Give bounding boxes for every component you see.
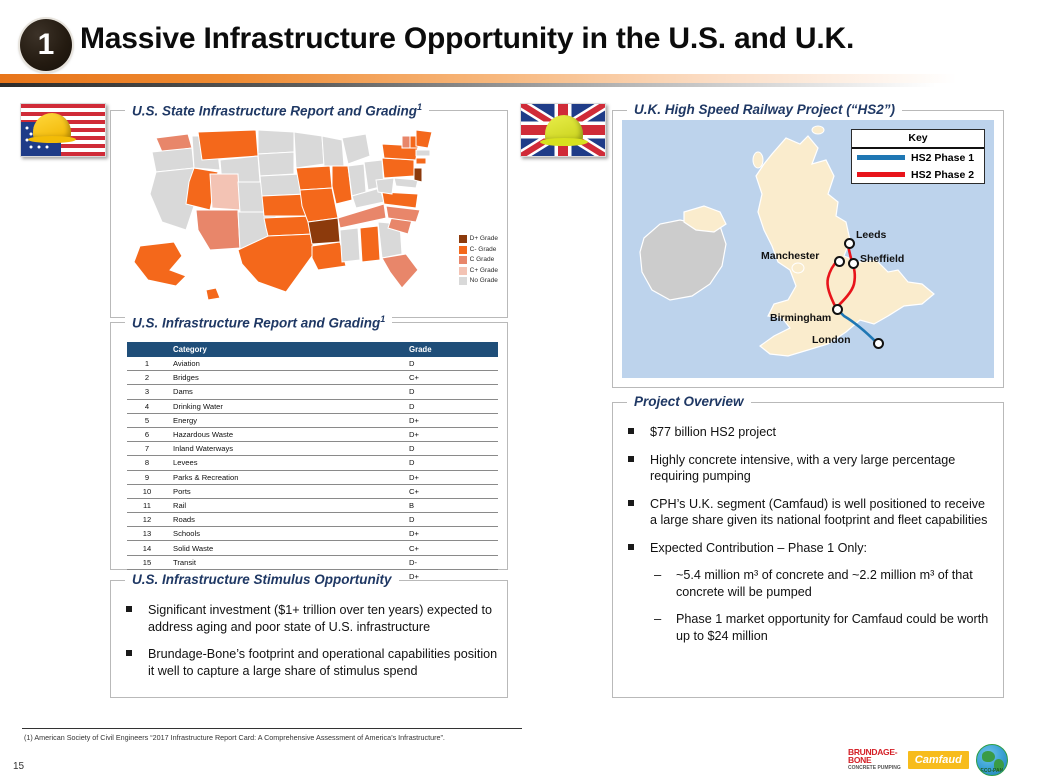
column-header-category: Category xyxy=(167,342,403,357)
table-row: 9Parks & RecreationD+ xyxy=(127,470,498,484)
cell-grade: D- xyxy=(403,555,498,569)
cell-category: Aviation xyxy=(167,357,403,371)
footnote-text: (1) American Society of Civil Engineers … xyxy=(24,733,445,742)
city-label-sheffield: Sheffield xyxy=(860,253,904,265)
us-state-choropleth-map: D+ Grade C- Grade C Grade C+ Grade No Gr… xyxy=(118,124,498,309)
ecopan-logo-text: ECO-PAN xyxy=(977,768,1007,774)
state-az xyxy=(196,210,240,250)
phase2-line-swatch xyxy=(857,172,905,177)
cell-grade: D xyxy=(403,456,498,470)
us-state-map-caption: U.S. State Infrastructure Report and Gra… xyxy=(125,102,429,119)
cell-grade: C+ xyxy=(403,541,498,555)
bullet-square-icon xyxy=(624,496,650,529)
cell-index: 9 xyxy=(127,470,167,484)
state-mi xyxy=(342,134,370,164)
uk-flag-hardhat-icon xyxy=(520,103,606,157)
legend-item: D+ Grade xyxy=(459,234,498,245)
legend-item: C- Grade xyxy=(459,245,498,256)
footnote-divider xyxy=(22,728,522,729)
cell-category: Bridges xyxy=(167,371,403,385)
city-label-london: London xyxy=(812,334,850,346)
hs2-map-key: Key HS2 Phase 1 HS2 Phase 2 xyxy=(851,129,985,184)
list-item-text: Highly concrete intensive, with a very l… xyxy=(650,452,994,485)
table-row: 3DamsD xyxy=(127,385,498,399)
list-item-text: ~5.4 million m³ of concrete and ~2.2 mil… xyxy=(676,567,994,600)
brundage-bone-logo: BRUNDAGE- BONE CONCRETE PUMPING xyxy=(848,748,901,772)
page-title: Massive Infrastructure Opportunity in th… xyxy=(80,22,854,56)
cell-grade: D+ xyxy=(403,527,498,541)
title-divider-shadow xyxy=(0,83,1040,87)
uk-map-panel: U.K. High Speed Railway Project (“HS2”) xyxy=(612,110,1004,388)
list-item: Brundage-Bone’s footprint and operationa… xyxy=(122,646,500,679)
cell-category: Drinking Water xyxy=(167,399,403,413)
cell-grade: D xyxy=(403,399,498,413)
cell-grade: C+ xyxy=(403,371,498,385)
cell-index: 12 xyxy=(127,513,167,527)
city-dot-birmingham xyxy=(832,304,843,315)
state-nj xyxy=(414,168,422,182)
cell-index: 13 xyxy=(127,527,167,541)
state-ia xyxy=(296,166,332,190)
city-label-leeds: Leeds xyxy=(856,229,886,241)
us-flag-hardhat-icon xyxy=(20,103,106,157)
bullet-square-icon xyxy=(624,424,650,441)
state-vt xyxy=(402,136,410,148)
logo-group: BRUNDAGE- BONE CONCRETE PUMPING Camfaud … xyxy=(848,744,1008,776)
bullet-square-icon xyxy=(624,540,650,557)
bullet-dash-icon: – xyxy=(650,567,676,600)
table-header-row: Category Grade xyxy=(127,342,498,357)
page-number: 15 xyxy=(13,761,24,772)
state-me xyxy=(416,130,432,148)
us-map-legend: D+ Grade C- Grade C Grade C+ Grade No Gr… xyxy=(459,234,498,287)
table-row: 1AviationD xyxy=(127,357,498,371)
table-row: 14Solid WasteC+ xyxy=(127,541,498,555)
ecopan-logo: ECO-PAN xyxy=(976,744,1008,776)
state-wi xyxy=(322,136,344,166)
table-row: 13SchoolsD+ xyxy=(127,527,498,541)
bullet-square-icon xyxy=(122,602,148,635)
list-item: Significant investment ($1+ trillion ove… xyxy=(122,602,500,635)
state-sd xyxy=(258,152,294,176)
state-ma xyxy=(416,150,430,156)
state-pa xyxy=(382,158,414,178)
state-ct xyxy=(416,158,426,164)
legend-item: No Grade xyxy=(459,276,498,287)
uk-hs2-map: Leeds Manchester Sheffield Birmingham Lo… xyxy=(622,120,994,378)
list-item: CPH’s U.K. segment (Camfaud) is well pos… xyxy=(624,496,994,529)
table-row: 15TransitD- xyxy=(127,555,498,569)
list-item-text: CPH’s U.K. segment (Camfaud) is well pos… xyxy=(650,496,994,529)
city-dot-london xyxy=(873,338,884,349)
cell-grade: D xyxy=(403,385,498,399)
brundage-bone-tagline: CONCRETE PUMPING xyxy=(848,764,901,772)
state-mo xyxy=(300,188,338,222)
state-hi xyxy=(206,288,220,300)
brundage-bone-line2: BONE xyxy=(848,756,901,764)
cell-index: 14 xyxy=(127,541,167,555)
state-nd xyxy=(258,130,294,154)
cell-category: Roads xyxy=(167,513,403,527)
cell-category: Rail xyxy=(167,498,403,512)
list-item: $77 billion HS2 project xyxy=(624,424,994,441)
cell-index: 1 xyxy=(127,357,167,371)
city-dot-leeds xyxy=(844,238,855,249)
list-item-text: Expected Contribution – Phase 1 Only: xyxy=(650,540,994,557)
cell-category: Hazardous Waste xyxy=(167,427,403,441)
cell-index: 15 xyxy=(127,555,167,569)
cell-index: 2 xyxy=(127,371,167,385)
state-mn xyxy=(294,132,324,168)
city-dot-sheffield xyxy=(848,258,859,269)
cell-grade: D+ xyxy=(403,427,498,441)
list-item-text: Brundage-Bone’s footprint and operationa… xyxy=(148,646,500,679)
key-item-label: HS2 Phase 1 xyxy=(911,152,974,164)
table-row: 8LeveesD xyxy=(127,456,498,470)
bullet-square-icon xyxy=(624,452,650,485)
list-item-text: $77 billion HS2 project xyxy=(650,424,994,441)
table-row: 6Hazardous WasteD+ xyxy=(127,427,498,441)
us-infrastructure-grades-table: Category Grade 1AviationD2BridgesC+3Dams… xyxy=(127,342,498,597)
cell-index: 5 xyxy=(127,413,167,427)
city-dot-manchester xyxy=(834,256,845,267)
legend-item: C Grade xyxy=(459,255,498,266)
state-ak xyxy=(134,242,186,286)
cell-index: 10 xyxy=(127,484,167,498)
cell-grade: D xyxy=(403,357,498,371)
cell-category: Parks & Recreation xyxy=(167,470,403,484)
cell-category: Levees xyxy=(167,456,403,470)
cell-index: 11 xyxy=(127,498,167,512)
cell-grade: D xyxy=(403,513,498,527)
us-stimulus-bullets: Significant investment ($1+ trillion ove… xyxy=(122,602,500,690)
table-row: 7Inland WaterwaysD xyxy=(127,442,498,456)
camfaud-logo: Camfaud xyxy=(908,751,969,769)
column-header-grade: Grade xyxy=(403,342,498,357)
cell-grade: D+ xyxy=(403,470,498,484)
cell-category: Dams xyxy=(167,385,403,399)
state-ms xyxy=(340,228,360,262)
list-item: Expected Contribution – Phase 1 Only: xyxy=(624,540,994,557)
table-row: 2BridgesC+ xyxy=(127,371,498,385)
list-item: Highly concrete intensive, with a very l… xyxy=(624,452,994,485)
cell-category: Solid Waste xyxy=(167,541,403,555)
bullet-dash-icon: – xyxy=(650,611,676,644)
cell-grade: D xyxy=(403,442,498,456)
bullet-square-icon xyxy=(122,646,148,679)
state-fl xyxy=(382,254,418,288)
cell-index: 8 xyxy=(127,456,167,470)
project-overview-caption: Project Overview xyxy=(627,394,751,409)
table-row: 4Drinking WaterD xyxy=(127,399,498,413)
cell-category: Ports xyxy=(167,484,403,498)
cell-grade: D+ xyxy=(403,413,498,427)
sub-list-item: –~5.4 million m³ of concrete and ~2.2 mi… xyxy=(650,567,994,600)
slide-number-badge: 1 xyxy=(20,19,72,71)
table-row: 11RailB xyxy=(127,498,498,512)
uk-map-caption: U.K. High Speed Railway Project (“HS2”) xyxy=(627,102,902,117)
cell-index: 3 xyxy=(127,385,167,399)
title-divider xyxy=(0,74,1040,83)
cell-category: Schools xyxy=(167,527,403,541)
table-row: 10PortsC+ xyxy=(127,484,498,498)
us-infrastructure-table-caption: U.S. Infrastructure Report and Grading1 xyxy=(125,314,392,331)
state-mt xyxy=(198,130,258,160)
cell-index: 6 xyxy=(127,427,167,441)
phase1-line-swatch xyxy=(857,155,905,160)
column-header-index xyxy=(127,342,167,357)
city-label-birmingham: Birmingham xyxy=(770,312,831,324)
list-item-text: Phase 1 market opportunity for Camfaud c… xyxy=(676,611,994,644)
state-al xyxy=(360,226,380,262)
table-row: 12RoadsD xyxy=(127,513,498,527)
city-label-manchester: Manchester xyxy=(761,250,819,262)
cell-category: Transit xyxy=(167,555,403,569)
cell-category: Inland Waterways xyxy=(167,442,403,456)
us-stimulus-caption: U.S. Infrastructure Stimulus Opportunity xyxy=(125,572,399,587)
table-row: 5EnergyD+ xyxy=(127,413,498,427)
state-va xyxy=(382,192,418,208)
cell-grade: B xyxy=(403,498,498,512)
cell-category: Energy xyxy=(167,413,403,427)
state-wv xyxy=(376,178,394,194)
cell-grade: C+ xyxy=(403,484,498,498)
key-item-phase2: HS2 Phase 2 xyxy=(852,166,984,183)
cell-index: 4 xyxy=(127,399,167,413)
key-item-phase1: HS2 Phase 1 xyxy=(852,149,984,166)
state-ut xyxy=(210,174,240,210)
project-overview-bullets: $77 billion HS2 projectHighly concrete i… xyxy=(624,424,994,655)
cell-index: 7 xyxy=(127,442,167,456)
key-title: Key xyxy=(852,130,984,149)
list-item-text: Significant investment ($1+ trillion ove… xyxy=(148,602,500,635)
legend-item: C+ Grade xyxy=(459,266,498,277)
state-ar xyxy=(308,218,340,244)
key-item-label: HS2 Phase 2 xyxy=(911,169,974,181)
sub-list-item: –Phase 1 market opportunity for Camfaud … xyxy=(650,611,994,644)
